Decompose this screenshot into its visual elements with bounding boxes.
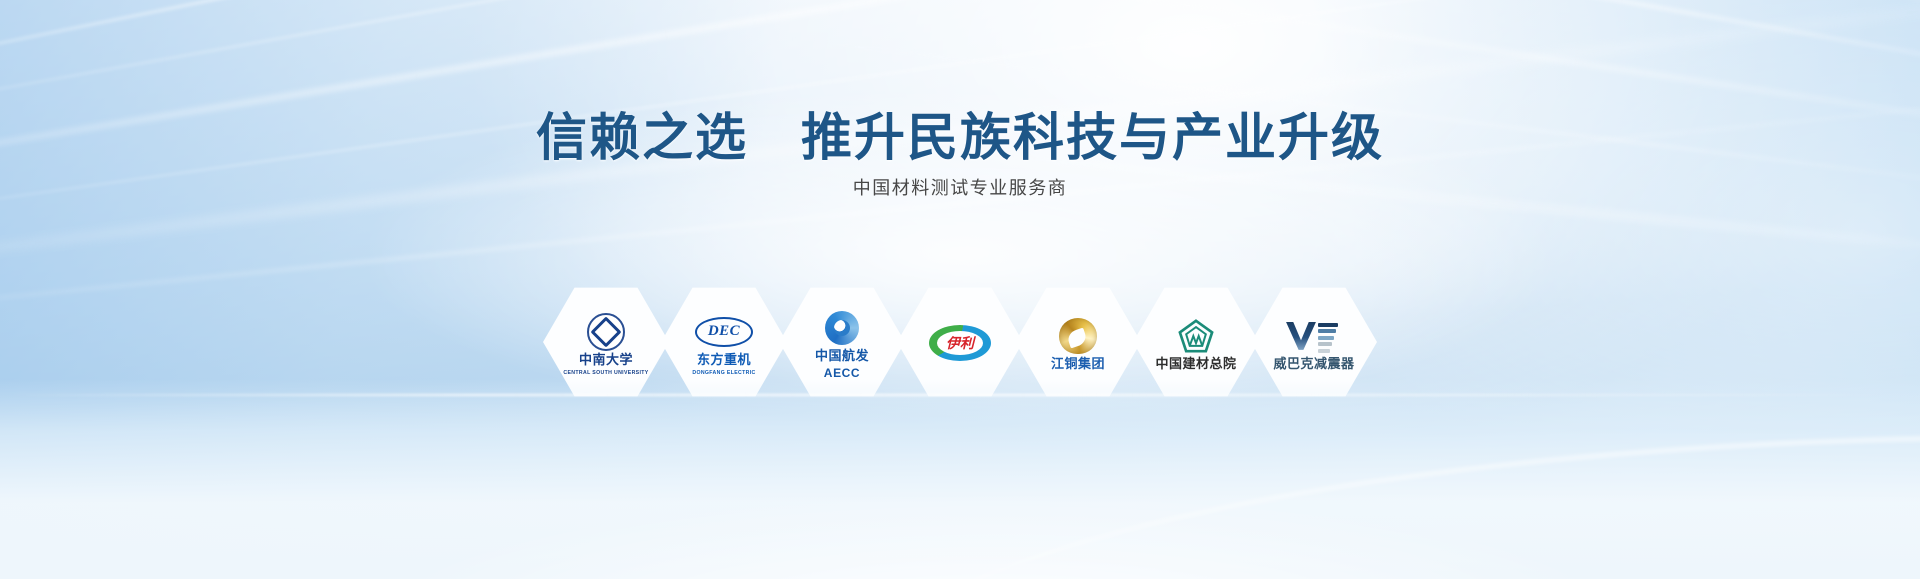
light-streak [788,0,1920,89]
partner-name-cn: 中国航发 [815,350,869,364]
partner-name-en: AECC [824,366,860,380]
partner-hex-jiangxi-copper[interactable]: 江铜集团 [1015,286,1141,398]
dec-oval-icon: DEC [695,312,753,352]
vibracoustic-v-icon [1286,316,1342,356]
light-streak [797,0,1920,42]
partner-name-en: DONGFANG ELECTRIC [692,370,755,376]
partner-name-cn: 威巴克减震器 [1273,358,1354,372]
partner-hex-vibracoustic[interactable]: 威巴克减震器 [1251,286,1377,398]
partner-name-cn: 江铜集团 [1051,358,1105,372]
aecc-swirl-icon [825,308,859,348]
yili-ring-icon: 伊利 [929,323,991,363]
partner-hex-cbma[interactable]: 中国建材总院 [1133,286,1259,398]
reflective-floor [0,379,1920,579]
partner-hex-yili[interactable]: 伊利 [897,286,1023,398]
partner-name-cn: 中国建材总院 [1155,358,1236,372]
jcc-gold-ribbon-icon [1059,316,1097,356]
partner-hex-dongfang-electric[interactable]: DEC 东方重机 DONGFANG ELECTRIC [661,286,787,398]
floor-reflection-arc [845,436,1920,579]
partner-hex-aecc[interactable]: 中国航发 AECC [779,286,905,398]
cbma-pentagon-icon [1178,316,1214,356]
partner-name-en: CENTRAL SOUTH UNIVERSITY [563,370,648,376]
banner-headline: 信赖之选 推升民族科技与产业升级 [0,96,1920,170]
light-streak [0,0,1920,62]
dec-mark-text: DEC [708,323,740,340]
partner-hex-central-south-university[interactable]: 中南大学 CENTRAL SOUTH UNIVERSITY [543,286,669,398]
partner-name-cn: 东方重机 [697,354,751,368]
yili-mark-text: 伊利 [937,331,983,355]
partner-logo-row: 中南大学 CENTRAL SOUTH UNIVERSITY DEC 东方重机 D… [547,286,1373,398]
csu-seal-icon [587,312,625,352]
hero-banner: 信赖之选 推升民族科技与产业升级 中国材料测试专业服务商 中南大学 CENTRA… [0,0,1920,579]
partner-name-cn: 中南大学 [579,354,633,368]
banner-subtitle: 中国材料测试专业服务商 [0,174,1920,200]
